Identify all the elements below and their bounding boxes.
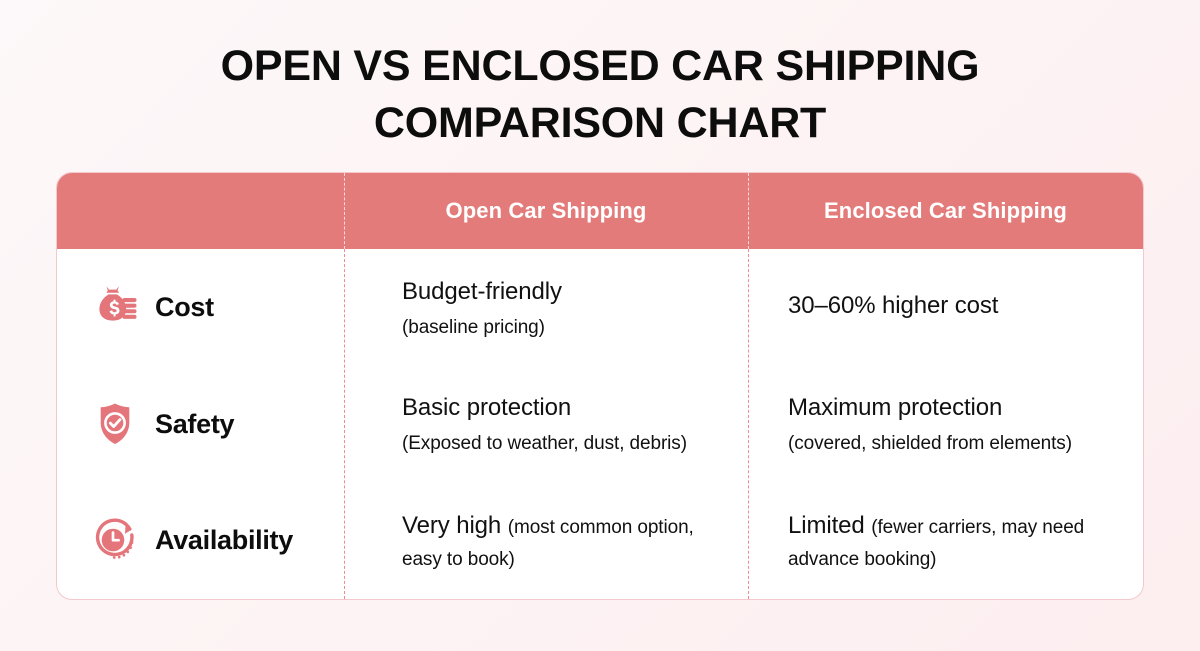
page-title: OPEN VS ENCLOSED CAR SHIPPING COMPARISON… — [56, 0, 1144, 152]
feature-label: Safety — [155, 409, 234, 440]
value-main: 30–60% higher cost — [788, 287, 998, 324]
comparison-table: Open Car Shipping Enclosed Car Shipping — [57, 173, 1143, 599]
value-cell-open-cost: Budget-friendly (baseline pricing) — [344, 249, 748, 366]
value-cell-open-availability: Very high (most common option, easy to b… — [344, 482, 748, 599]
table-header-feature — [57, 173, 344, 249]
value-text: Very high (most common option, easy to b… — [402, 507, 732, 574]
money-bag-icon — [89, 281, 141, 333]
value-text: Budget-friendly (baseline pricing) — [402, 273, 562, 343]
table-header-row: Open Car Shipping Enclosed Car Shipping — [57, 173, 1143, 249]
infographic-page: OPEN VS ENCLOSED CAR SHIPPING COMPARISON… — [0, 0, 1200, 651]
value-cell-enclosed-safety: Maximum protection (covered, shielded fr… — [748, 366, 1143, 483]
feature-cell-availability: Availability — [57, 482, 344, 599]
clock-history-icon — [89, 515, 141, 567]
comparison-table-card: Open Car Shipping Enclosed Car Shipping — [56, 172, 1144, 600]
value-main: Limited — [788, 512, 871, 539]
shield-check-icon — [89, 398, 141, 450]
value-text: Basic protection (Exposed to weather, du… — [402, 389, 687, 459]
value-text: Maximum protection (covered, shielded fr… — [788, 389, 1072, 459]
table-body: Cost Budget-friendly (baseline pricing) … — [57, 249, 1143, 599]
title-line-2: COMPARISON CHART — [56, 95, 1144, 152]
value-sub: (covered, shielded from elements) — [788, 429, 1072, 458]
value-cell-enclosed-cost: 30–60% higher cost — [748, 249, 1143, 366]
table-header-enclosed: Enclosed Car Shipping — [748, 173, 1143, 249]
feature-label: Availability — [155, 525, 293, 556]
title-line-1: OPEN VS ENCLOSED CAR SHIPPING — [56, 38, 1144, 95]
value-cell-open-safety: Basic protection (Exposed to weather, du… — [344, 366, 748, 483]
value-sub: (baseline pricing) — [402, 313, 562, 342]
feature-label: Cost — [155, 292, 214, 323]
value-text: Limited (fewer carriers, may need advanc… — [788, 507, 1123, 574]
value-main: Budget-friendly — [402, 273, 562, 310]
value-sub: (Exposed to weather, dust, debris) — [402, 429, 687, 458]
table-row: Safety Basic protection (Exposed to weat… — [57, 366, 1143, 483]
table-header-open: Open Car Shipping — [344, 173, 748, 249]
feature-cell-safety: Safety — [57, 366, 344, 483]
table-row: Cost Budget-friendly (baseline pricing) … — [57, 249, 1143, 366]
value-main: Very high — [402, 512, 508, 539]
value-main: Basic protection — [402, 389, 687, 426]
feature-cell-cost: Cost — [57, 249, 344, 366]
value-main: Maximum protection — [788, 389, 1072, 426]
table-row: Availability Very high (most common opti… — [57, 482, 1143, 599]
value-text: 30–60% higher cost — [788, 287, 998, 327]
value-cell-enclosed-availability: Limited (fewer carriers, may need advanc… — [748, 482, 1143, 599]
